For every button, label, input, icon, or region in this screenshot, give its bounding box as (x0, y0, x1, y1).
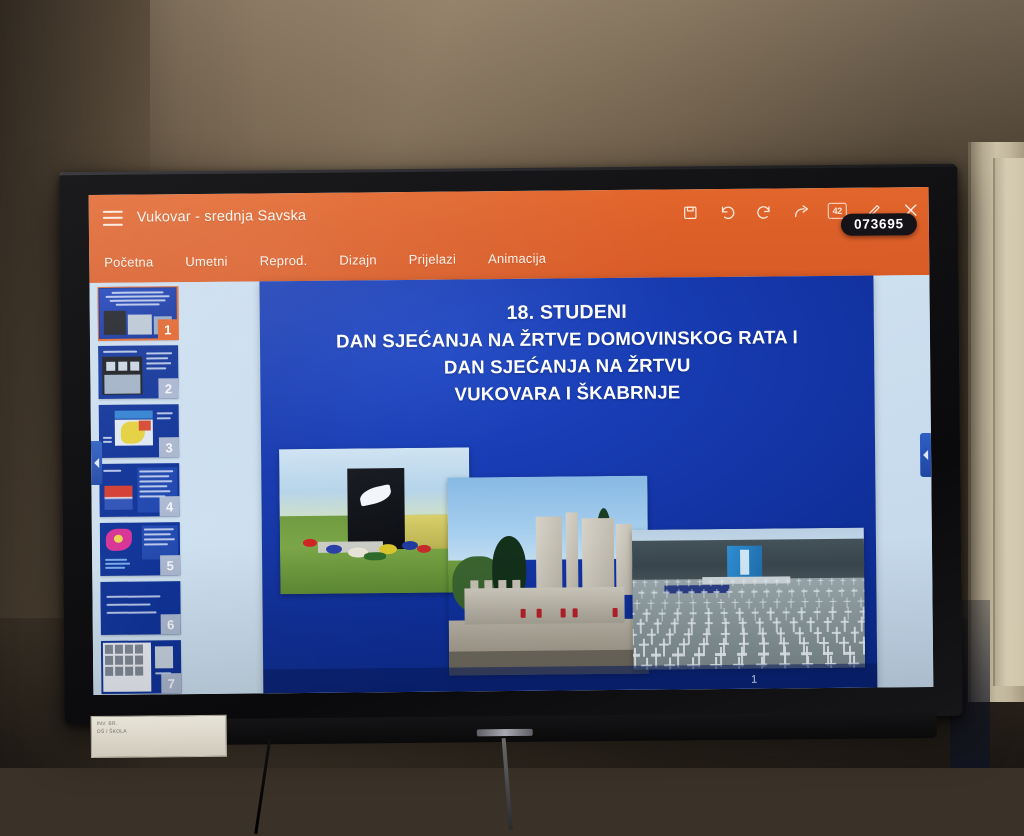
cross-marker-arm (774, 601, 781, 602)
cross-marker-arm (684, 633, 693, 635)
slide-title-text: 18. STUDENI DAN SJEĆANJA NA ŽRTVE DOMOVI… (260, 296, 875, 411)
redo-icon[interactable] (754, 201, 774, 221)
cross-marker-arm (664, 582, 669, 583)
photo-stone-memorial-candles[interactable] (447, 476, 649, 676)
slide-thumbnail-6[interactable]: 6 (100, 581, 181, 635)
cross-marker-arm (697, 581, 702, 582)
cross-marker-arm (864, 590, 865, 591)
cross-marker (688, 628, 690, 644)
cross-marker-arm (739, 643, 749, 645)
undo-icon[interactable] (717, 202, 737, 222)
thumbnail-number-3: 3 (159, 437, 179, 457)
cross-marker (683, 638, 685, 656)
cross-marker (651, 628, 653, 644)
cross-marker-arm (720, 612, 727, 614)
cross-marker-arm (859, 642, 865, 644)
cross-marker (780, 627, 782, 643)
cross-marker-arm (653, 582, 658, 583)
cross-marker (832, 607, 834, 620)
cross-marker (754, 588, 755, 597)
cross-marker-arm (819, 642, 829, 644)
cross-marker (678, 599, 679, 610)
photo2-slab-4 (616, 523, 633, 594)
cross-marker (636, 599, 637, 610)
photo2-slab-1 (536, 516, 563, 595)
cross-marker-arm (776, 632, 785, 634)
cross-marker-arm (675, 581, 680, 582)
cross-marker-arm (665, 633, 674, 635)
photo2-candle-4 (573, 608, 578, 617)
cross-marker-arm (779, 642, 789, 644)
cross-marker-arm (844, 652, 854, 654)
tab-dizajn[interactable]: Dizajn (336, 250, 380, 269)
cross-marker (632, 629, 634, 645)
cross-marker-arm (705, 612, 712, 614)
cross-marker-arm (813, 632, 822, 634)
photo1-flowers-blue (326, 544, 342, 553)
cross-marker-arm (823, 621, 831, 623)
cross-marker-arm (737, 653, 747, 655)
cross-marker-arm (832, 632, 841, 634)
photo2-candle-2 (537, 608, 542, 617)
cross-marker (633, 580, 634, 587)
cross-marker-arm (844, 611, 851, 613)
cross-marker (754, 608, 756, 621)
cross-marker (710, 579, 711, 586)
cross-marker (748, 598, 749, 609)
cross-marker-arm (798, 611, 805, 613)
cross-marker (666, 589, 667, 598)
cross-marker (721, 579, 722, 586)
cross-marker (804, 588, 805, 597)
cross-marker-arm (758, 653, 768, 655)
cross-marker (762, 598, 763, 609)
cross-marker-arm (715, 653, 725, 655)
display-screen: Vukovar - srednja Savska (89, 187, 934, 695)
thumbnail-number-4: 4 (159, 496, 179, 516)
cross-marker (860, 597, 861, 608)
cross-marker (766, 588, 767, 597)
cross-marker (831, 578, 832, 585)
cross-marker-arm (829, 611, 836, 613)
cross-marker-arm (642, 582, 647, 583)
cross-marker (793, 617, 795, 632)
cross-marker-arm (739, 632, 748, 634)
cross-marker-arm (806, 621, 814, 623)
cross-marker (688, 579, 689, 586)
display-brand-logo (477, 729, 533, 737)
door-panel (993, 158, 1024, 686)
cross-marker-arm (772, 622, 780, 624)
cross-marker-arm (704, 602, 711, 603)
slide-thumbnail-2[interactable]: 2 (98, 345, 179, 399)
room-background: INV. BR. OŠ / ŠKOLA Vukovar - srednja Sa… (0, 0, 1024, 768)
cross-marker-arm (721, 633, 730, 635)
cross-marker (729, 589, 730, 598)
tab-pocetna[interactable]: Početna (101, 252, 156, 272)
cross-marker (674, 618, 676, 633)
cross-marker-arm (760, 601, 767, 602)
cross-marker-arm (689, 592, 695, 593)
cross-marker (841, 588, 842, 597)
cross-marker-arm (758, 632, 767, 634)
chevron-left-icon (94, 458, 99, 468)
app-header: Vukovar - srednja Savska (89, 187, 930, 283)
cross-marker-arm (636, 623, 644, 625)
cross-marker-arm (694, 653, 704, 655)
cross-marker-arm (780, 653, 790, 655)
cross-marker-arm (763, 581, 768, 582)
cross-marker (818, 598, 819, 609)
cross-marker (699, 579, 700, 586)
cross-marker (791, 588, 792, 597)
thumbnail-number-6: 6 (161, 614, 181, 634)
hamburger-icon[interactable] (103, 210, 123, 225)
cross-marker-arm (818, 580, 823, 581)
photo3-monument-cross (740, 550, 750, 575)
cross-marker (666, 580, 667, 587)
cross-marker-arm (721, 622, 729, 624)
cross-marker-arm (752, 581, 757, 582)
cross-marker-arm (708, 581, 713, 582)
cross-marker-arm (850, 631, 859, 633)
cross-marker-arm (858, 600, 865, 601)
cross-marker (706, 628, 708, 644)
cross-marker (863, 607, 865, 620)
cross-marker-arm (840, 580, 845, 581)
photo2-candle-1 (521, 609, 526, 618)
cross-marker-arm (662, 602, 669, 603)
cross-marker-arm (672, 654, 682, 656)
cross-marker-arm (830, 601, 837, 602)
photo1-flowers-blue2 (402, 541, 418, 550)
cross-marker-arm (643, 613, 650, 615)
cross-marker-arm (632, 582, 637, 583)
cross-marker-arm (746, 601, 753, 602)
cross-marker-arm (648, 602, 655, 603)
cross-marker (847, 607, 849, 620)
slide-thumbnail-5[interactable]: 5 (100, 522, 181, 576)
wall-mounted-display: INV. BR. OŠ / ŠKOLA Vukovar - srednja Sa… (59, 164, 962, 725)
cross-marker-arm (782, 611, 789, 613)
cross-marker-arm (823, 652, 833, 654)
cross-marker (817, 627, 819, 643)
tab-prijelazi[interactable]: Prijelazi (406, 249, 460, 269)
cross-marker (732, 579, 733, 586)
slide-thumbnail-7[interactable]: 7 (101, 640, 182, 694)
tab-animacija[interactable]: Animacija (485, 248, 549, 268)
cross-marker (664, 599, 665, 610)
cross-marker (741, 589, 742, 598)
cross-marker-arm (634, 602, 641, 603)
cross-marker-arm (844, 600, 851, 601)
cross-marker (646, 609, 648, 622)
tab-reprod[interactable]: Reprod. (257, 250, 311, 270)
cross-marker-arm (658, 613, 665, 615)
cross-marker (657, 619, 659, 634)
cross-marker-arm (719, 581, 724, 582)
cross-marker (854, 587, 855, 596)
cross-marker-arm (851, 580, 856, 581)
photo2-wall (464, 587, 624, 624)
cross-marker-arm (801, 652, 811, 654)
cross-marker (691, 589, 692, 598)
cross-marker (836, 627, 838, 643)
cross-marker-arm (676, 602, 683, 603)
cross-marker-arm (829, 580, 834, 581)
share-icon[interactable] (791, 201, 811, 221)
photo1-flowers-red (303, 539, 317, 547)
cross-marker-arm (839, 642, 849, 644)
cross-marker-arm (702, 633, 711, 635)
cross-marker (809, 578, 810, 585)
photo-memorial-cemetery-crosses[interactable] (632, 528, 865, 670)
cross-marker (861, 617, 863, 632)
cross-marker (743, 579, 744, 586)
cross-marker (655, 580, 656, 587)
cross-marker-arm (730, 581, 735, 582)
cross-marker (844, 617, 846, 632)
slide-title-line-4: VUKOVARA I ŠKABRNJE (260, 378, 874, 411)
cross-marker-arm (687, 623, 695, 625)
collapse-right-panel-button[interactable] (920, 433, 931, 477)
cross-marker-arm (732, 602, 739, 603)
cross-marker-arm (789, 591, 795, 592)
cross-marker (827, 617, 829, 632)
cross-marker-arm (664, 592, 670, 593)
cross-marker (691, 618, 693, 633)
cross-marker (842, 578, 843, 585)
cross-marker-arm (785, 580, 790, 581)
cross-marker-arm (759, 643, 769, 645)
cross-marker-arm (651, 592, 657, 593)
slide-thumbnail-3[interactable]: 3 (99, 404, 180, 458)
cross-marker-arm (767, 612, 774, 614)
cross-marker-arm (802, 601, 809, 602)
cross-marker (801, 607, 803, 620)
cross-marker-arm (789, 622, 797, 624)
cross-marker-arm (751, 612, 758, 614)
cross-marker-arm (816, 601, 823, 602)
cross-marker (776, 598, 777, 609)
cross-marker (708, 618, 710, 633)
cross-marker (734, 598, 735, 609)
thumbnail-number-5: 5 (160, 555, 180, 575)
cross-marker (679, 589, 680, 598)
cross-marker-arm (738, 622, 746, 624)
cross-marker-arm (796, 580, 801, 581)
cross-marker-arm (689, 612, 696, 614)
cross-marker-arm (632, 633, 637, 635)
cross-marker-arm (813, 611, 820, 613)
cross-marker-arm (690, 602, 697, 603)
cross-marker (677, 579, 678, 586)
cross-marker (654, 589, 655, 598)
cross-marker (663, 638, 665, 656)
sticker-line-2: OŠ / ŠKOLA (97, 727, 221, 736)
cross-marker (820, 578, 821, 585)
cross-marker-arm (799, 642, 809, 644)
cross-marker (785, 608, 787, 621)
cross-marker (754, 579, 755, 586)
cross-marker-arm (639, 592, 645, 593)
cross-marker-arm (704, 622, 712, 624)
photo1-foliage (364, 553, 386, 561)
cross-marker (692, 609, 694, 622)
cross-marker (739, 608, 741, 621)
thumbnail-number-1: 1 (158, 319, 178, 339)
cross-marker-arm (795, 632, 804, 634)
cross-marker-arm (701, 592, 707, 593)
cross-marker-arm (639, 644, 649, 646)
photo2-slab-2 (566, 512, 579, 595)
slide-thumbnail-rail[interactable]: 1 2 (97, 286, 189, 695)
photo3-reflecting-pool (665, 585, 730, 594)
cross-marker-arm (814, 590, 820, 591)
cross-marker (644, 580, 645, 587)
cross-marker (770, 608, 772, 621)
cross-marker (816, 588, 817, 597)
cross-marker (677, 609, 679, 622)
cross-marker-arm (741, 581, 746, 582)
slide-thumbnail-1[interactable]: 1 (97, 286, 178, 340)
cross-marker-arm (826, 590, 832, 591)
editor-workspace: 1 2 (89, 275, 933, 695)
cross-marker (829, 588, 830, 597)
cross-marker-arm (788, 601, 795, 602)
photo2-candle-3 (561, 608, 566, 617)
photo2-slab-3 (582, 518, 615, 596)
cross-marker-arm (632, 654, 640, 656)
photo-black-monument-dove[interactable] (279, 447, 470, 594)
cross-marker (863, 636, 865, 654)
cross-marker (759, 618, 761, 633)
cross-marker (864, 578, 865, 585)
chevron-left-icon-right (923, 450, 928, 460)
cross-marker-arm (651, 654, 661, 656)
cross-marker (799, 627, 801, 643)
cross-marker-arm (774, 581, 779, 582)
photo2-candle-5 (613, 608, 618, 617)
slide-canvas[interactable]: 18. STUDENI DAN SJEĆANJA NA ŽRTVE DOMOVI… (259, 276, 877, 694)
cross-marker-arm (670, 623, 678, 625)
cross-marker (765, 579, 766, 586)
cross-marker-arm (776, 591, 782, 592)
slide-thumbnail-4[interactable]: 4 (99, 463, 180, 517)
cross-marker-arm (857, 621, 865, 623)
cross-marker (704, 589, 705, 598)
inventory-sticker: INV. BR. OŠ / ŠKOLA (91, 715, 227, 758)
cross-marker (816, 607, 818, 620)
cross-marker (650, 599, 651, 610)
cross-marker-arm (653, 623, 661, 625)
cross-marker (640, 619, 642, 634)
cross-marker (720, 598, 721, 609)
cross-marker (641, 589, 642, 598)
slide-page-number: 1 (751, 674, 757, 686)
cross-marker-arm (840, 621, 848, 623)
cross-marker (854, 626, 856, 642)
cross-marker-arm (647, 633, 656, 635)
cross-marker-arm (860, 611, 865, 613)
document-title: Vukovar - srednja Savska (137, 208, 307, 226)
tab-umetni[interactable]: Umetni (182, 251, 231, 270)
cross-marker-arm (714, 591, 720, 592)
cross-marker-arm (686, 581, 691, 582)
cross-marker-arm (679, 643, 689, 645)
cross-marker-arm (807, 580, 812, 581)
cross-marker (669, 628, 671, 644)
cross-marker-arm (632, 613, 635, 615)
cross-marker (661, 609, 663, 622)
thumbnail-number-2: 2 (158, 378, 178, 398)
cross-marker-arm (659, 643, 669, 645)
cross-marker-arm (676, 592, 682, 593)
cross-marker-arm (755, 622, 763, 624)
cross-marker (716, 589, 717, 598)
cross-marker (776, 617, 778, 632)
save-icon[interactable] (680, 202, 700, 222)
cross-marker-arm (726, 591, 732, 592)
collapse-thumbnail-rail-button[interactable] (91, 441, 102, 485)
cross-marker-arm (862, 580, 865, 581)
cross-marker-arm (851, 590, 857, 591)
cross-marker-arm (764, 591, 770, 592)
cross-marker (804, 598, 805, 609)
cross-marker-arm (719, 643, 729, 645)
session-code-badge[interactable]: 073695 (841, 213, 917, 236)
cross-marker (790, 598, 791, 609)
cross-marker-arm (801, 591, 807, 592)
cross-marker (853, 578, 854, 585)
cross-marker (643, 638, 645, 656)
cross-marker (776, 578, 777, 585)
cross-marker-arm (736, 612, 743, 614)
cross-marker (779, 588, 780, 597)
photo1-monument (348, 468, 406, 550)
cross-marker (787, 578, 788, 585)
cross-marker-arm (699, 643, 709, 645)
cross-marker (810, 617, 812, 632)
thumbnail-number-7: 7 (161, 673, 181, 693)
cross-marker-arm (718, 602, 725, 603)
cross-marker-arm (674, 612, 681, 614)
cross-marker (798, 578, 799, 585)
cross-marker-arm (739, 591, 745, 592)
cross-marker-arm (839, 590, 845, 591)
cross-marker-arm (751, 591, 757, 592)
